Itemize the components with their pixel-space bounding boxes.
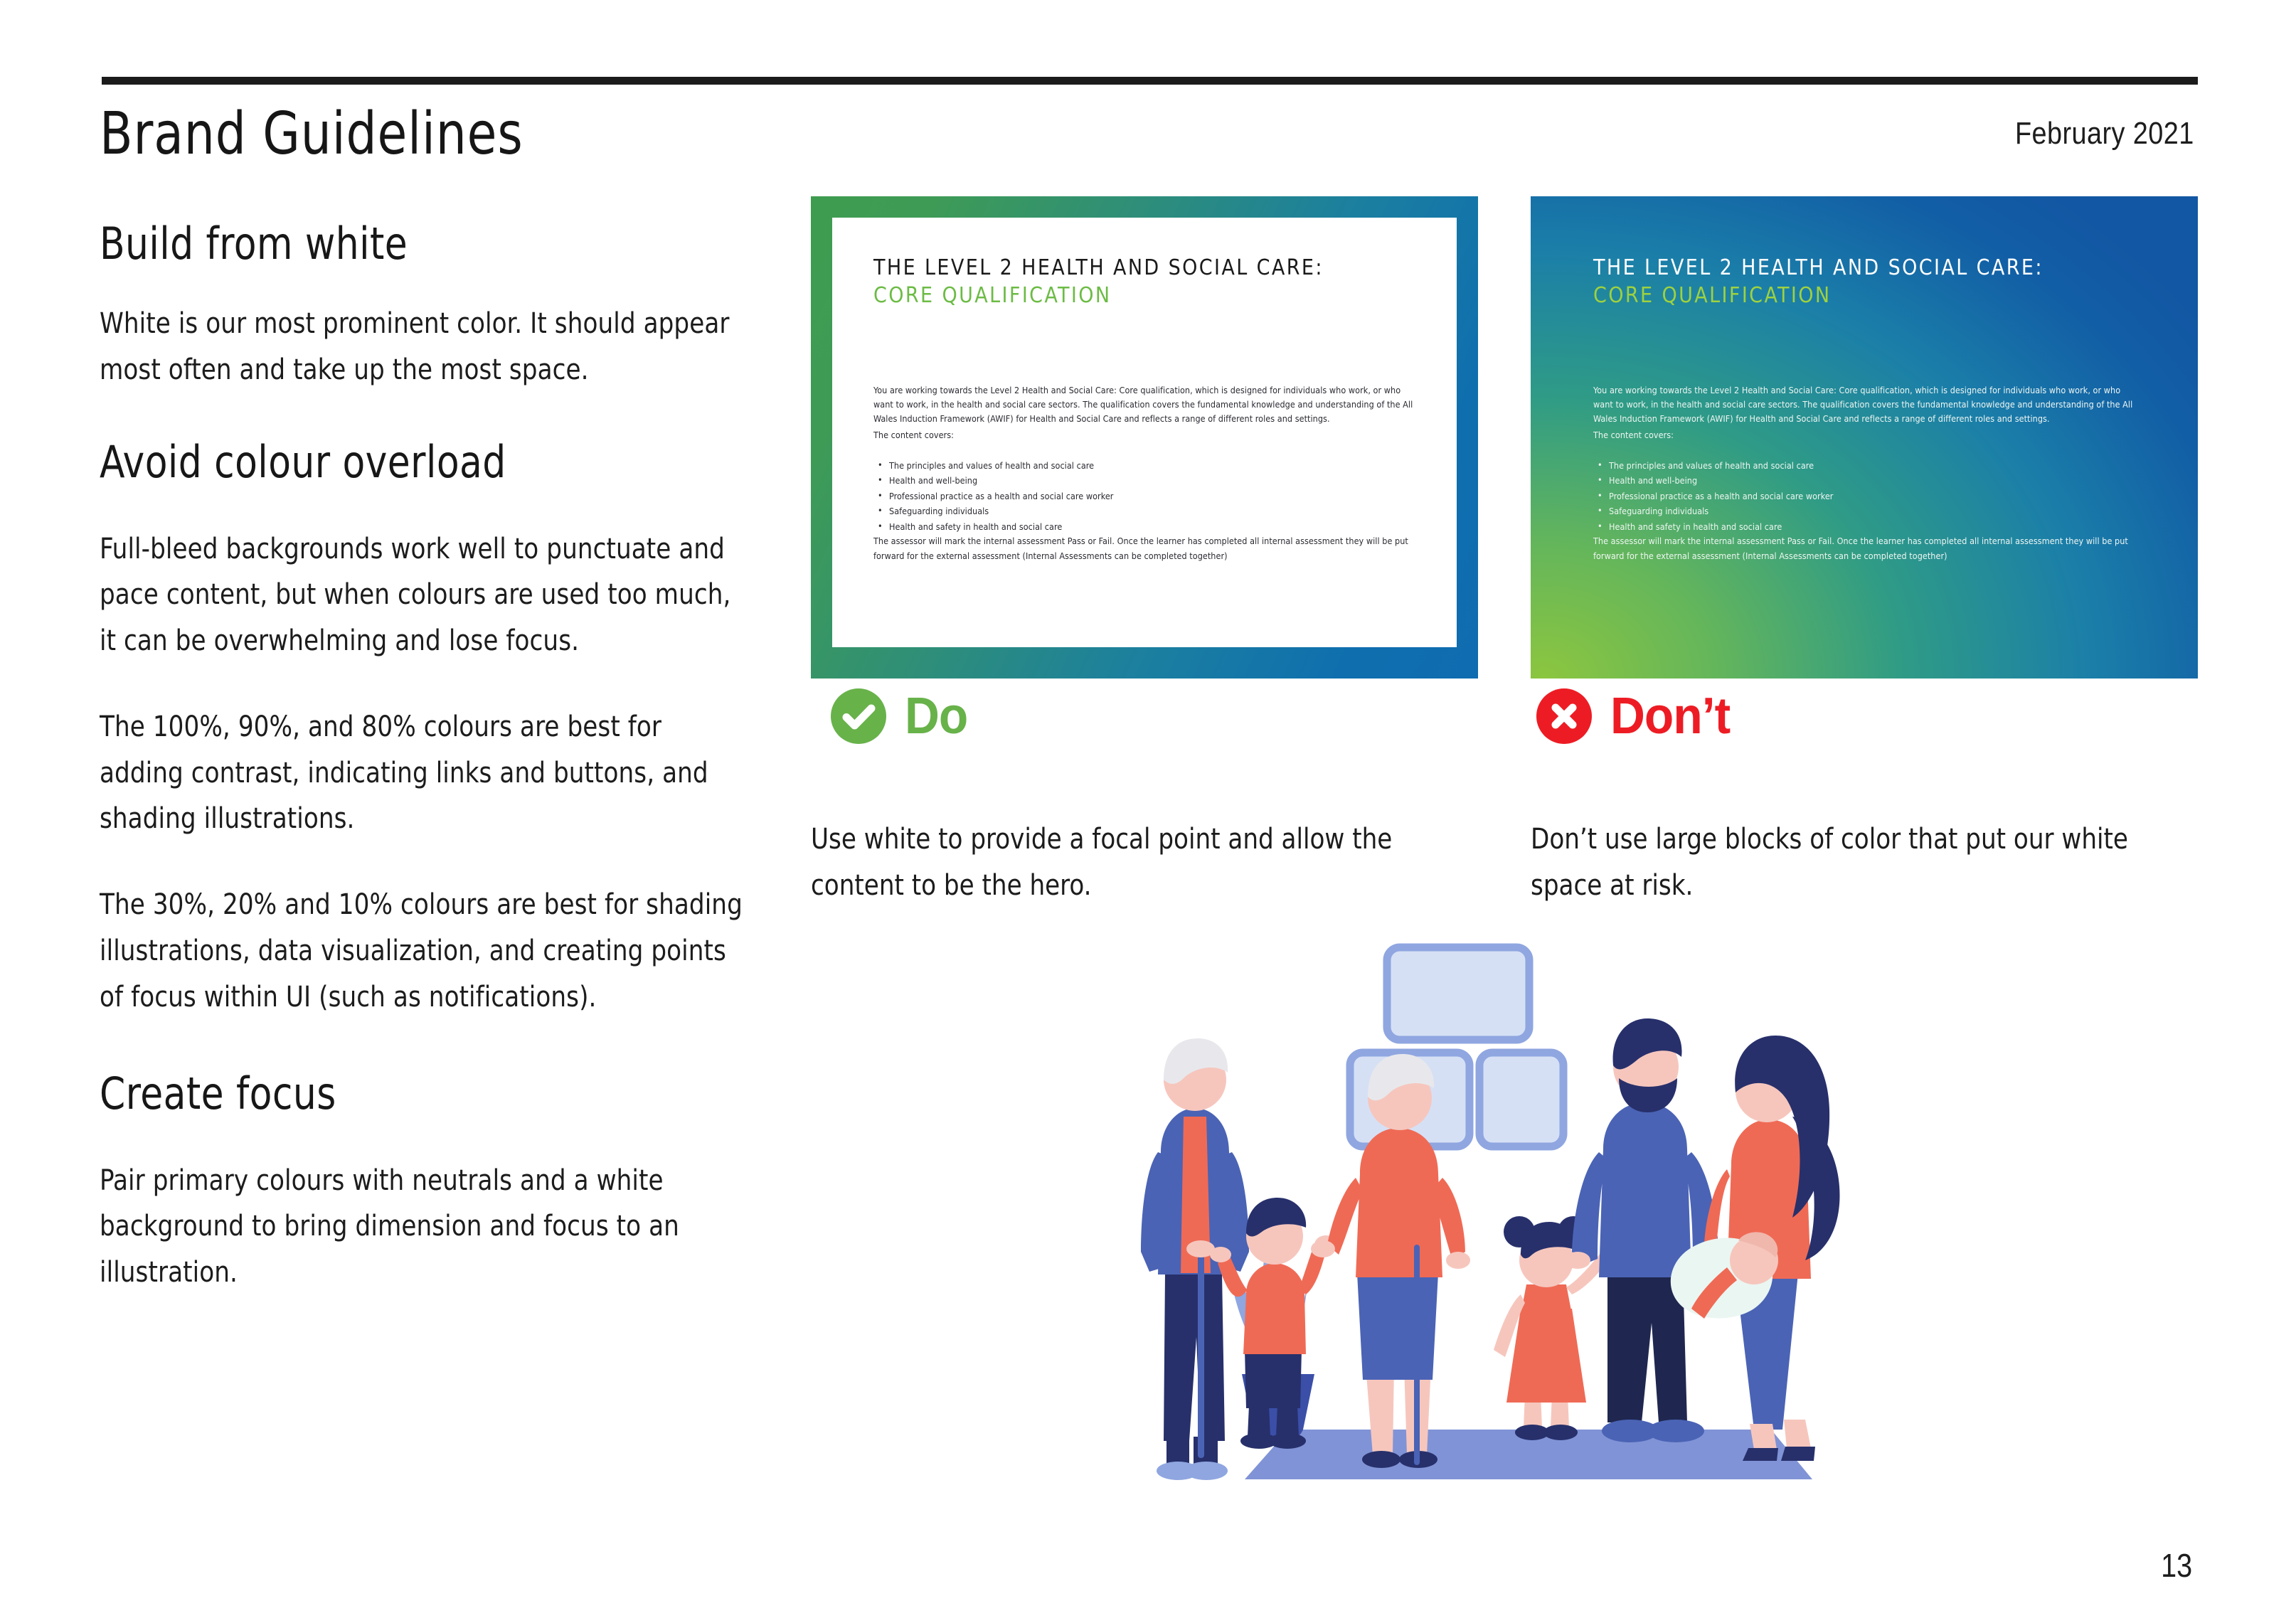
page-number: 13 xyxy=(2161,1549,2192,1582)
list-item: Safeguarding individuals xyxy=(1609,504,2137,519)
section-heading-build-from-white: Build from white xyxy=(100,220,735,268)
list-item: Professional practice as a health and so… xyxy=(889,489,1417,504)
slide-intro-paragraph: You are working towards the Level 2 Heal… xyxy=(873,383,1417,427)
slide-bullet-list: The principles and values of health and … xyxy=(1593,458,2137,535)
paragraph-pair-primary-colours: Pair primary colours with neutrals and a… xyxy=(100,1158,748,1296)
paragraph-high-percent-colours: The 100%, 90%, and 80% colours are best … xyxy=(100,704,748,842)
document-date: February 2021 xyxy=(2015,118,2194,149)
family-group-illustration xyxy=(1110,939,1878,1501)
slide-white-canvas: THE LEVEL 2 HEALTH AND SOCIAL CARE: CORE… xyxy=(832,218,1457,647)
slide-covers-label: The content covers: xyxy=(873,428,1417,442)
left-content-column: Build from white White is our most promi… xyxy=(100,220,782,1296)
list-item: Health and well-being xyxy=(1609,473,2137,489)
slide-subtitle: CORE QUALIFICATION xyxy=(1593,282,2137,309)
header-rule xyxy=(102,77,2198,85)
check-circle-icon xyxy=(831,688,886,744)
list-item: The principles and values of health and … xyxy=(889,458,1417,474)
slide-title: THE LEVEL 2 HEALTH AND SOCIAL CARE: xyxy=(1593,255,2137,282)
caption-dont: Don’t use large blocks of color that put… xyxy=(1531,816,2179,909)
paragraph-full-bleed: Full-bleed backgrounds work well to punc… xyxy=(100,526,748,664)
list-item: Health and safety in health and social c… xyxy=(889,519,1417,535)
page-title: Brand Guidelines xyxy=(100,105,523,164)
x-circle-icon xyxy=(1536,688,1592,744)
slide-content-do: THE LEVEL 2 HEALTH AND SOCIAL CARE: CORE… xyxy=(832,218,1457,647)
person-grandfather xyxy=(1141,1038,1249,1480)
list-item: Safeguarding individuals xyxy=(889,504,1417,519)
paragraph-white-prominent: White is our most prominent color. It sh… xyxy=(100,301,748,393)
list-item: Professional practice as a health and so… xyxy=(1609,489,2137,504)
verdict-label-dont: Don’t xyxy=(1610,691,1730,742)
example-card-dont: THE LEVEL 2 HEALTH AND SOCIAL CARE: CORE… xyxy=(1531,196,2198,679)
slide-text-block: You are working towards the Level 2 Heal… xyxy=(873,383,1417,563)
list-item: The principles and values of health and … xyxy=(1609,458,2137,474)
brand-guidelines-page: Brand Guidelines February 2021 Build fro… xyxy=(0,0,2296,1623)
slide-footer-paragraph: The assessor will mark the internal asse… xyxy=(1593,534,2137,563)
person-father xyxy=(1565,1018,1727,1442)
section-heading-avoid-colour-overload: Avoid colour overload xyxy=(100,439,735,486)
person-mother xyxy=(1671,1036,1840,1461)
slide-intro-paragraph: You are working towards the Level 2 Heal… xyxy=(1593,383,2137,427)
verdict-do: Do xyxy=(831,688,972,744)
list-item: Health and well-being xyxy=(889,473,1417,489)
slide-bullet-list: The principles and values of health and … xyxy=(873,458,1417,535)
slide-covers-label: The content covers: xyxy=(1593,428,2137,442)
paragraph-low-percent-colours: The 30%, 20% and 10% colours are best fo… xyxy=(100,882,748,1020)
slide-text-block: You are working towards the Level 2 Heal… xyxy=(1593,383,2137,563)
caption-do: Use white to provide a focal point and a… xyxy=(811,816,1460,909)
slide-content-dont: THE LEVEL 2 HEALTH AND SOCIAL CARE: CORE… xyxy=(1531,196,2198,679)
verdict-dont: Don’t xyxy=(1536,688,1738,744)
list-item: Health and safety in health and social c… xyxy=(1609,519,2137,535)
slide-footer-paragraph: The assessor will mark the internal asse… xyxy=(873,534,1417,563)
verdict-label-do: Do xyxy=(905,691,967,742)
slide-title: THE LEVEL 2 HEALTH AND SOCIAL CARE: xyxy=(873,255,1417,282)
example-card-do: THE LEVEL 2 HEALTH AND SOCIAL CARE: CORE… xyxy=(811,196,1478,679)
slide-subtitle: CORE QUALIFICATION xyxy=(873,282,1417,309)
section-heading-create-focus: Create focus xyxy=(100,1070,735,1118)
